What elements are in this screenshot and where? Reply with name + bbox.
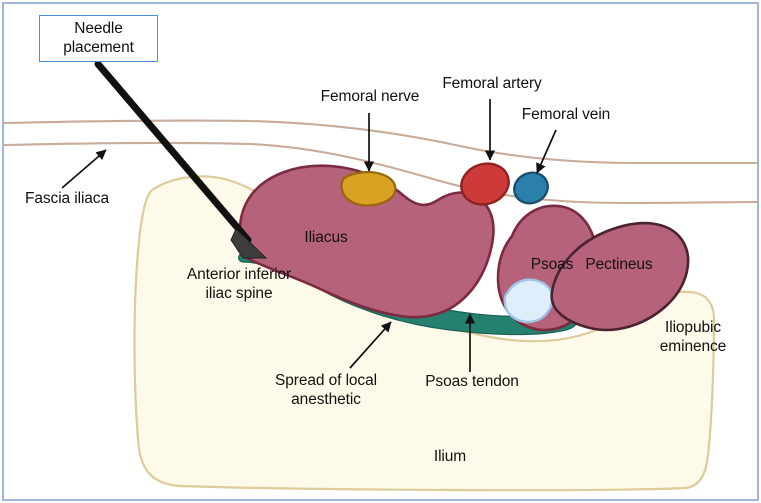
femoral-artery-label: Femoral artery	[418, 75, 566, 94]
iliopubic-eminence-label: Iliopubic eminence	[643, 319, 743, 357]
needle-placement-callout[interactable]: Needle placement	[39, 15, 158, 62]
anterior-inferior-iliac-spine-label: Anterior inferior iliac spine	[156, 266, 322, 304]
femoral-vein	[510, 168, 553, 209]
pectineus-label: Pectineus	[562, 256, 676, 275]
iliacus-label: Iliacus	[288, 229, 364, 248]
psoas-tendon-label: Psoas tendon	[404, 373, 540, 392]
arrow-femoral-vein	[537, 130, 556, 173]
fascia-iliaca-upper-line	[4, 121, 757, 163]
needle-placement-label: Needle placement	[63, 20, 134, 58]
ilium-label: Ilium	[410, 448, 490, 467]
femoral-nerve	[342, 172, 396, 205]
fascia-iliaca-label: Fascia iliaca	[25, 190, 145, 209]
anatomy-figure: Needle placement Fascia iliaca Femoral n…	[0, 0, 761, 503]
arrow-fascia-iliaca	[62, 150, 106, 188]
spread-of-local-anesthetic-label: Spread of local anesthetic	[248, 372, 404, 410]
psoas-tendon	[505, 280, 553, 322]
femoral-vein-label: Femoral vein	[500, 106, 632, 125]
anatomy-illustration	[0, 0, 761, 503]
